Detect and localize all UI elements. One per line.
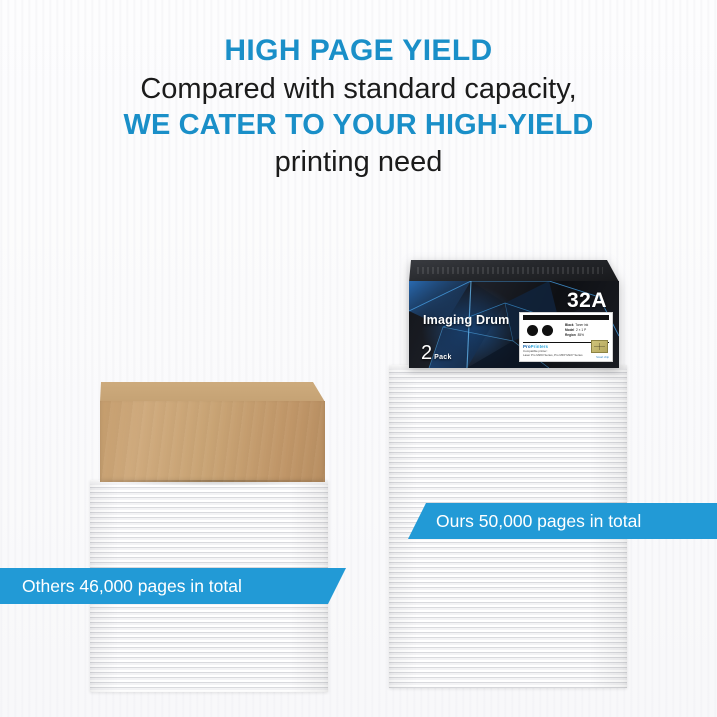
spec-row-2-value: 85% (578, 333, 584, 337)
spec-label: Black Toner ink Model 2 × 1 P Region 85%… (519, 312, 613, 362)
smart-chip-icon (591, 340, 608, 353)
generic-carton-box (85, 382, 325, 482)
pack-count-label: Pack (434, 354, 452, 361)
product-box-front-face: Imaging Drum 32A 2Pack Black Toner ink M… (409, 281, 619, 368)
product-box: Imaging Drum 32A 2Pack Black Toner ink M… (397, 260, 619, 368)
pack-count-badge: 2Pack (421, 343, 452, 364)
product-title: Imaging Drum (423, 313, 509, 327)
spec-row-2-name: Region (565, 333, 576, 337)
headline-line-1: HIGH PAGE YIELD (0, 36, 717, 66)
pack-count-number: 2 (421, 342, 432, 364)
spec-row-0-value: Toner ink (575, 323, 588, 327)
headline-line-4: printing need (0, 148, 717, 177)
banner-others-yield: Others 46,000 pages in total (0, 568, 368, 604)
headline-line-3: WE CATER TO YOUR HIGH-YIELD (0, 111, 717, 140)
smart-chip-caption: Smart chip (596, 356, 609, 359)
product-box-top-face (397, 260, 619, 282)
product-code: 32A (567, 289, 607, 313)
spec-table: Black Toner ink Model 2 × 1 P Region 85% (565, 323, 588, 338)
spec-row-0-name: Black (565, 323, 574, 327)
spec-label-black-bar (523, 315, 609, 320)
spec-row-1-value: 2 × 1 P (576, 328, 586, 332)
headline-line-2: Compared with standard capacity, (0, 75, 717, 104)
carton-top-face (85, 382, 325, 402)
headline-block: HIGH PAGE YIELD Compared with standard c… (0, 36, 717, 177)
black-toner-dot-1 (527, 325, 538, 336)
carton-drop-shadow (103, 480, 325, 486)
spec-row-1-name: Model (565, 328, 574, 332)
banner-ours-yield: Ours 50,000 pages in total (408, 503, 717, 539)
promo-image: HIGH PAGE YIELD Compared with standard c… (0, 0, 717, 717)
carton-front-face (100, 401, 325, 482)
black-toner-dot-2 (542, 325, 553, 336)
